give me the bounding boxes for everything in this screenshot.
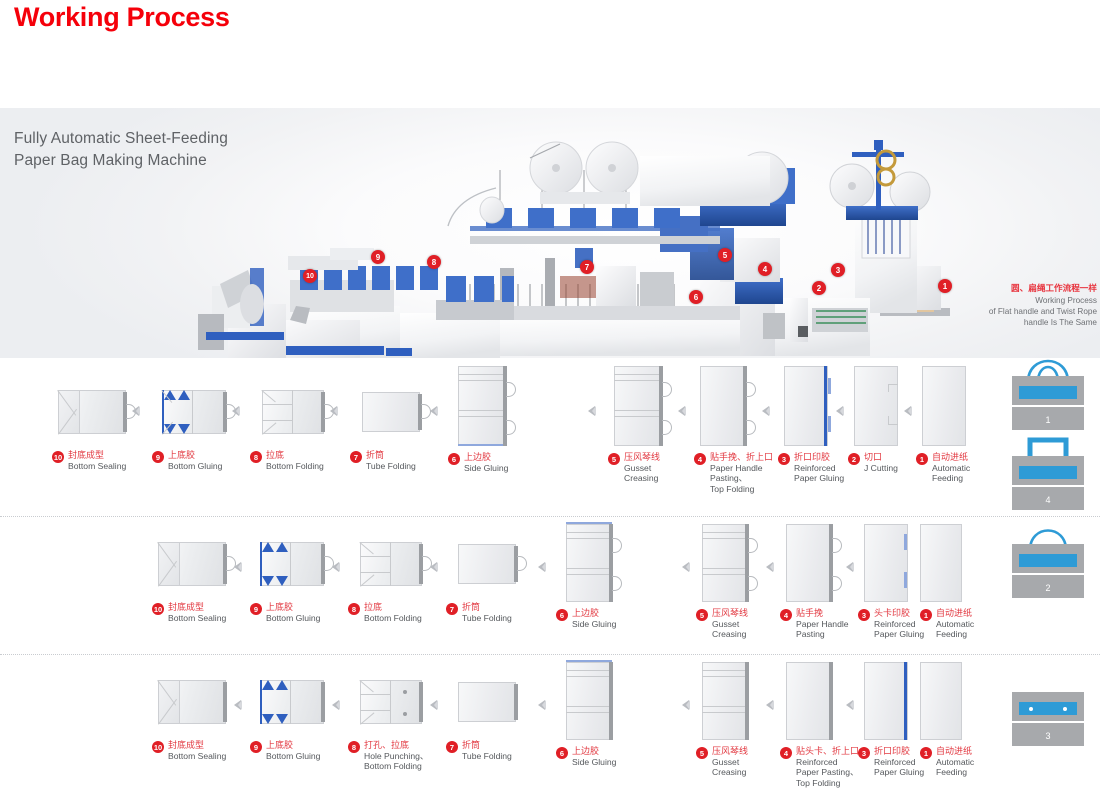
stage-label-en-2: Creasing: [624, 473, 660, 484]
stage-label-en-1: Paper Handle: [796, 619, 849, 630]
machine-callout-2[interactable]: 2: [812, 281, 826, 295]
stage-number: 5: [608, 453, 620, 465]
bag-thumbnail-1[interactable]: 1: [1012, 376, 1084, 430]
stage-label: 8 拉底 Bottom Folding: [348, 602, 448, 623]
stage-label-en-2: Pasting、: [710, 473, 773, 484]
flat-handle-note-cn: 圆、扁绳工作流程一样: [985, 283, 1097, 294]
bag-thumbnail-number: 3: [1012, 731, 1084, 741]
stage-label-en-2: Bottom Folding: [364, 761, 429, 772]
stage-row1-side-gluing[interactable]: 6 上边胶 Side Gluing: [448, 354, 548, 473]
stage-row1-gusset-creasing[interactable]: 5 压风琴线 Gusset Creasing: [608, 354, 708, 484]
stage-number: 6: [556, 747, 568, 759]
stage-label: 1 自动进纸 Automatic Feeding: [916, 452, 1006, 484]
flow-arrow: [332, 700, 339, 710]
stage-number: 8: [348, 741, 360, 753]
stage-label-en-2: Paper Gluing: [874, 629, 924, 640]
page-title: Working Process: [14, 2, 230, 33]
stage-label-en: Tube Folding: [462, 751, 512, 762]
flow-arrow: [332, 562, 339, 572]
stage-label-cn: 压风琴线: [712, 608, 748, 619]
stage-label-en: Bottom Sealing: [168, 751, 226, 762]
stage-number: 6: [556, 609, 568, 621]
flow-arrow: [538, 700, 545, 710]
flow-arrow: [682, 562, 689, 572]
gusset-star-icon: [258, 678, 298, 726]
stage-label: 9 上底胶 Bottom Gluing: [250, 602, 350, 623]
bag-divider: [1012, 573, 1084, 575]
stage-label-en: Side Gluing: [572, 619, 616, 630]
stage-label-cn: 自动进纸: [932, 452, 970, 463]
punch-hole-icon: [403, 712, 407, 716]
stage-number: 7: [350, 451, 362, 463]
stage-row2-tube-folding[interactable]: 7 折筒 Tube Folding: [446, 528, 546, 623]
bag-body: 1: [1012, 376, 1084, 430]
bag-art-side-gluing: [556, 652, 656, 740]
stage-label: 6 上边胶 Side Gluing: [556, 608, 656, 629]
stage-label-cn: 自动进纸: [936, 746, 974, 757]
stage-label: 6 上边胶 Side Gluing: [448, 452, 548, 473]
stage-label-cn: 拉底: [364, 602, 422, 613]
flat-handle-note-line1: Working Process: [1035, 296, 1097, 305]
bag-divider: [1012, 485, 1084, 487]
stage-row3-bottom-sealing[interactable]: 10 封底成型 Bottom Sealing: [152, 666, 252, 761]
stage-label-en-2: Feeding: [932, 473, 970, 484]
stage-label-en: Side Gluing: [572, 757, 616, 768]
stage-label-cn: 头卡印胶: [874, 608, 924, 619]
stage-number: 6: [448, 453, 460, 465]
bag-divider: [1012, 721, 1084, 723]
stage-label-en: Bottom Sealing: [168, 613, 226, 624]
machine-callout-5[interactable]: 5: [718, 248, 732, 262]
gusset-star-icon: [258, 540, 298, 588]
stage-label-cn: 上边胶: [572, 746, 616, 757]
stage-label-en-1: Paper Handle: [710, 463, 773, 474]
punch-hole-icon: [403, 690, 407, 694]
stage-label-en-3: Top Folding: [796, 778, 859, 789]
stage-number: 4: [780, 747, 792, 759]
machine-callout-7[interactable]: 7: [580, 260, 594, 274]
bag-art-automatic-feeding: [916, 354, 1006, 446]
bag-band: [1019, 466, 1077, 479]
stage-number: 8: [250, 451, 262, 463]
bag-thumbnail-number: 2: [1012, 583, 1084, 593]
flat-handle-note-line3: handle Is The Same: [1024, 318, 1097, 327]
stage-row2-automatic-feeding[interactable]: 1 自动进纸 Automatic Feeding: [920, 514, 1010, 640]
process-row-3: 10 封底成型 Bottom Sealing: [0, 660, 1100, 789]
flow-arrow: [430, 562, 437, 572]
stage-label-en-2: Paper Gluing: [794, 473, 844, 484]
stage-label-cn: 折筒: [462, 602, 512, 613]
bag-art-tube-folding: [446, 528, 546, 598]
stage-label-en: Tube Folding: [462, 613, 512, 624]
stage-number: 5: [696, 747, 708, 759]
stage-label-en: Bottom Gluing: [168, 461, 222, 472]
stage-label-en-1: Reinforced: [874, 619, 924, 630]
flow-arrow: [538, 562, 545, 572]
stage-number: 3: [858, 747, 870, 759]
flow-arrow: [330, 406, 337, 416]
stage-row1-tube-folding[interactable]: 7 折筒 Tube Folding: [350, 368, 450, 471]
stage-label-en-1: Gusset: [712, 757, 748, 768]
machine-callout-4[interactable]: 4: [758, 262, 772, 276]
bag-band: [1019, 554, 1077, 567]
flow-arrow: [766, 562, 773, 572]
stage-row3-side-gluing[interactable]: 6 上边胶 Side Gluing: [556, 652, 656, 767]
stage-label-en: Bottom Gluing: [266, 751, 320, 762]
stage-label-cn: 封底成型: [168, 740, 226, 751]
stage-label-cn: 折口印胶: [794, 452, 844, 463]
stage-number: 9: [152, 451, 164, 463]
stage-label: 1 自动进纸 Automatic Feeding: [920, 608, 1010, 640]
flow-arrow: [132, 406, 139, 416]
flow-arrow: [766, 700, 773, 710]
stage-label-en: Bottom Folding: [364, 613, 422, 624]
flow-arrow: [762, 406, 769, 416]
flow-arrow: [836, 406, 843, 416]
stage-number: 7: [446, 741, 458, 753]
stage-label-en-2: Pasting: [796, 629, 849, 640]
flow-arrow: [588, 406, 595, 416]
stage-label-en: J Cutting: [864, 463, 898, 474]
process-row-2: 10 封底成型 Bottom Sealing: [0, 522, 1100, 642]
flow-arrow: [430, 406, 437, 416]
stage-label-en-1: Automatic: [932, 463, 970, 474]
stage-label: 10 封底成型 Bottom Sealing: [152, 740, 252, 761]
flow-arrow: [904, 406, 911, 416]
bag-thumbnail-2[interactable]: 2: [1012, 544, 1084, 598]
stage-label-en-1: Reinforced: [796, 757, 859, 768]
working-process-page: Working Process Fully Automatic Sheet-Fe…: [0, 0, 1100, 789]
stage-row3-hole-punch-folding[interactable]: 8 打孔、拉底 Hole Punching、 Bottom Folding: [348, 666, 448, 772]
bag-thumbnail-number: 1: [1012, 415, 1084, 425]
stage-label-en-2: Paper Gluing: [874, 767, 924, 778]
stage-label-cn: 折筒: [462, 740, 512, 751]
bag-thumbnail-3[interactable]: 3: [1012, 692, 1084, 746]
stage-label-cn: 压风琴线: [712, 746, 748, 757]
stage-label-en-1: Gusset: [624, 463, 660, 474]
stage-label-en: Tube Folding: [366, 461, 416, 472]
stage-row1-automatic-feeding[interactable]: 1 自动进纸 Automatic Feeding: [916, 354, 1006, 484]
machine-callout-6[interactable]: 6: [689, 290, 703, 304]
flow-arrow: [846, 700, 853, 710]
machine-callout-10[interactable]: 10: [303, 269, 317, 283]
stage-label-en-1: Gusset: [712, 619, 748, 630]
bag-art-automatic-feeding: [920, 652, 1010, 740]
stage-number: 2: [848, 453, 860, 465]
stage-label-cn: 贴头卡、折上口: [796, 746, 859, 757]
stage-label: 8 拉底 Bottom Folding: [250, 450, 350, 471]
stage-number: 7: [446, 603, 458, 615]
stage-label: 10 封底成型 Bottom Sealing: [152, 602, 252, 623]
punch-hole-icon: [1063, 707, 1067, 711]
stage-number: 10: [52, 451, 64, 463]
machine-callout-9[interactable]: 9: [371, 250, 385, 264]
stage-number: 3: [858, 609, 870, 621]
stage-label-en-2: Creasing: [712, 629, 748, 640]
stage-label-cn: 拉底: [266, 450, 324, 461]
stage-label-en-2: Feeding: [936, 767, 974, 778]
flow-arrow: [430, 700, 437, 710]
stage-row1-bottom-sealing[interactable]: 10 封底成型 Bottom Sealing: [52, 368, 152, 471]
stage-label-cn: 自动进纸: [936, 608, 974, 619]
bag-thumbnail-4[interactable]: 4: [1012, 456, 1084, 510]
process-row-1: 10 封底成型 Bottom Sealing: [0, 358, 1100, 516]
stage-label: 8 打孔、拉底 Hole Punching、 Bottom Folding: [348, 740, 448, 772]
bag-divider: [1012, 405, 1084, 407]
bag-art-automatic-feeding: [920, 514, 1010, 602]
stage-row3-bottom-gluing[interactable]: 9 上底胶 Bottom Gluing: [250, 666, 350, 761]
flow-arrow: [232, 406, 239, 416]
stage-row1-bottom-gluing[interactable]: 9 上底胶 Bottom Gluing: [152, 368, 252, 471]
stage-number: 8: [348, 603, 360, 615]
machine-callout-3[interactable]: 3: [831, 263, 845, 277]
stage-label-cn: 贴手挽: [796, 608, 849, 619]
stage-label-cn: 折筒: [366, 450, 416, 461]
stage-number: 4: [694, 453, 706, 465]
stage-number: 5: [696, 609, 708, 621]
bag-art-gusset-creasing: [608, 354, 708, 446]
stage-label-cn: 上边胶: [572, 608, 616, 619]
stage-label-en-1: Reinforced: [794, 463, 844, 474]
stage-label: 7 折筒 Tube Folding: [446, 740, 546, 761]
bag-art-tube-folding: [446, 666, 546, 736]
bag-band: [1019, 702, 1077, 715]
stage-label-cn: 切口: [864, 452, 898, 463]
stage-row2-bottom-sealing[interactable]: 10 封底成型 Bottom Sealing: [152, 528, 252, 623]
stage-number: 3: [778, 453, 790, 465]
bag-art-side-gluing: [448, 354, 548, 446]
stage-label-cn: 封底成型: [68, 450, 126, 461]
stage-label-en: Bottom Sealing: [68, 461, 126, 472]
stage-number: 9: [250, 603, 262, 615]
bag-body: 4: [1012, 456, 1084, 510]
stage-label-cn: 上底胶: [168, 450, 222, 461]
stage-label: 1 自动进纸 Automatic Feeding: [920, 746, 1010, 778]
flow-arrow: [234, 562, 241, 572]
machine-illustration-panel: Fully Automatic Sheet-Feeding Paper Bag …: [0, 108, 1100, 358]
stage-label-en-2: Creasing: [712, 767, 748, 778]
stage-number: 10: [152, 603, 164, 615]
stage-label-en-1: Automatic: [936, 619, 974, 630]
stage-row2-bottom-folding[interactable]: 8 拉底 Bottom Folding: [348, 528, 448, 623]
machine-callout-8[interactable]: 8: [427, 255, 441, 269]
stage-number: 1: [920, 747, 932, 759]
stage-label-en-2: Feeding: [936, 629, 974, 640]
bag-band: [1019, 386, 1077, 399]
bag-body: 3: [1012, 692, 1084, 746]
stage-number: 9: [250, 741, 262, 753]
stage-row1-bottom-folding[interactable]: 8 拉底 Bottom Folding: [250, 368, 350, 471]
machine-artwork: [0, 108, 1100, 358]
stage-label-en-1: Hole Punching、: [364, 751, 429, 762]
flow-arrow: [234, 700, 241, 710]
stage-label-en-1: Automatic: [936, 757, 974, 768]
stage-label-cn: 贴手挽、折上口: [710, 452, 773, 463]
stage-number: 1: [916, 453, 928, 465]
stage-label-en: Bottom Folding: [266, 461, 324, 472]
stage-label-cn: 压风琴线: [624, 452, 660, 463]
stage-number: 1: [920, 609, 932, 621]
stage-label-cn: 上底胶: [266, 740, 320, 751]
stage-label-en-1: Reinforced: [874, 757, 924, 768]
stage-label-cn: 折口印胶: [874, 746, 924, 757]
stage-label: 6 上边胶 Side Gluing: [556, 746, 656, 767]
flat-handle-note-line2: of Flat handle and Twist Rope: [989, 307, 1097, 316]
stage-row2-side-gluing[interactable]: 6 上边胶 Side Gluing: [556, 514, 656, 629]
stage-label-cn: 上底胶: [266, 602, 320, 613]
stage-label-en-3: Top Folding: [710, 484, 773, 495]
stage-row2-bottom-gluing[interactable]: 9 上底胶 Bottom Gluing: [250, 528, 350, 623]
stage-label: 9 上底胶 Bottom Gluing: [250, 740, 350, 761]
stage-row3-automatic-feeding[interactable]: 1 自动进纸 Automatic Feeding: [920, 652, 1010, 778]
stage-label-cn: 封底成型: [168, 602, 226, 613]
bag-art-side-gluing: [556, 514, 656, 602]
stage-label: 5 压风琴线 Gusset Creasing: [608, 452, 708, 484]
stage-label-en-2: Paper Pasting、: [796, 767, 859, 778]
bag-body: 2: [1012, 544, 1084, 598]
stage-label-en: Side Gluing: [464, 463, 508, 474]
flow-arrow: [678, 406, 685, 416]
machine-callout-1[interactable]: 1: [938, 279, 952, 293]
punch-hole-icon: [1029, 707, 1033, 711]
flow-arrow: [846, 562, 853, 572]
flow-arrow: [682, 700, 689, 710]
flat-handle-note: 圆、扁绳工作流程一样 Working Process of Flat handl…: [985, 283, 1097, 328]
stage-number: 4: [780, 609, 792, 621]
stage-label: 10 封底成型 Bottom Sealing: [52, 450, 152, 471]
bag-thumbnail-number: 4: [1012, 495, 1084, 505]
stage-label: 9 上底胶 Bottom Gluing: [152, 450, 252, 471]
stage-label: 7 折筒 Tube Folding: [446, 602, 546, 623]
stage-label-cn: 上边胶: [464, 452, 508, 463]
stage-number: 10: [152, 741, 164, 753]
stage-label-en: Bottom Gluing: [266, 613, 320, 624]
stage-row3-tube-folding[interactable]: 7 折筒 Tube Folding: [446, 666, 546, 761]
stage-label: 7 折筒 Tube Folding: [350, 450, 450, 471]
stage-label-cn: 打孔、拉底: [364, 740, 429, 751]
